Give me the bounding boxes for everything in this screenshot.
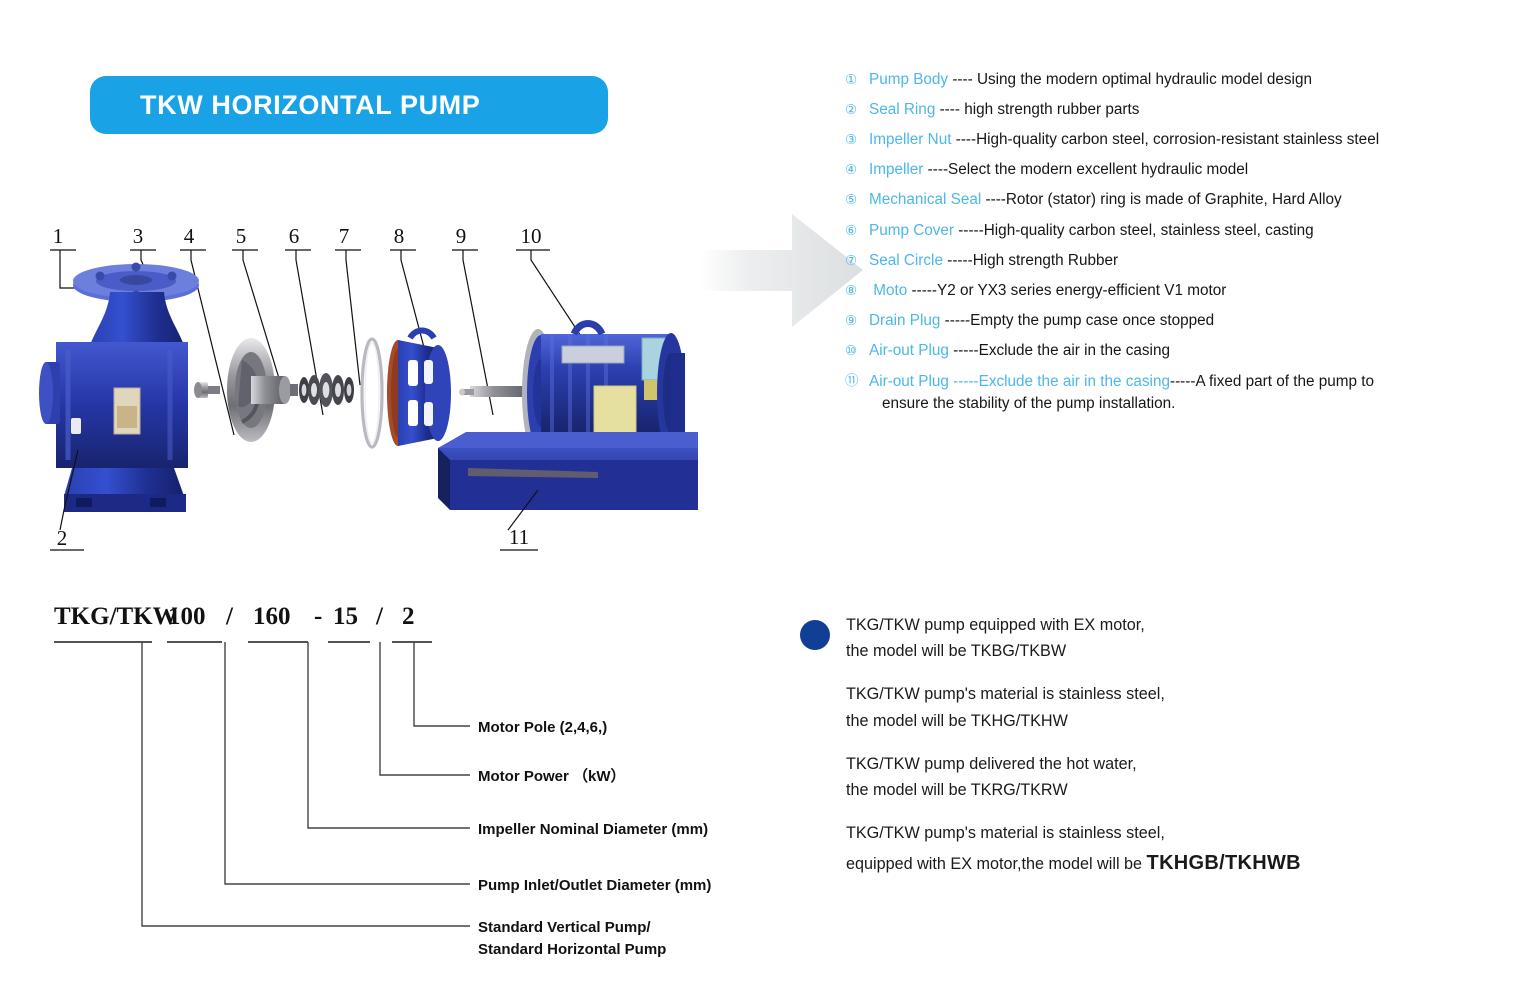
- legend-item-9: ⑨ Drain Plug -----Empty the pump case on…: [845, 311, 1505, 330]
- legend-number-icon-3: ③: [845, 130, 869, 149]
- legend-part-name-6: Pump Cover: [869, 222, 954, 239]
- note-line-4b: equipped with EX motor,the model will be…: [846, 847, 1440, 879]
- seal-circle-part: [362, 339, 382, 447]
- note-paragraph-1: TKG/TKW pump equipped with EX motor, the…: [846, 612, 1440, 664]
- legend-number-icon-4: ④: [845, 160, 869, 179]
- note-line-2b: the model will be TKHG/TKHW: [846, 708, 1440, 734]
- legend-item-4: ④ Impeller ----Select the modern excelle…: [845, 160, 1505, 179]
- legend-text-2: Seal Ring ---- high strength rubber part…: [869, 100, 1505, 119]
- note-line-4b-model: TKHGB/TKHWB: [1147, 852, 1301, 874]
- legend-part-name-9: Drain Plug: [869, 312, 940, 329]
- callout-number-11: 11: [509, 525, 529, 549]
- model-token-series: TKG/TKW: [54, 603, 178, 630]
- model-label-standard-horizontal: Standard Horizontal Pump: [478, 941, 666, 958]
- bullet-dot-icon: [800, 620, 830, 650]
- legend-item-5: ⑤ Mechanical Seal ----Rotor (stator) rin…: [845, 190, 1505, 209]
- legend-description-11-continued: ensure the stability of the pump install…: [869, 393, 1505, 415]
- note-line-1b: the model will be TKBG/TKBW: [846, 638, 1440, 664]
- model-label-motor-power: Motor Power （kW）: [478, 767, 626, 785]
- callout-number-4: 4: [184, 224, 195, 248]
- model-label-inlet-diameter: Pump Inlet/Outlet Diameter (mm): [478, 877, 711, 894]
- legend-part-name-11: Air-out Plug -----Exclude the air in the…: [869, 373, 1170, 390]
- note-paragraph-2: TKG/TKW pump's material is stainless ste…: [846, 681, 1440, 733]
- legend-text-4: Impeller ----Select the modern excellent…: [869, 160, 1505, 179]
- model-designation-diagram: TKG/TKW 100 / 160 - 15 / 2: [40, 596, 720, 976]
- pump-exploded-diagram: 1 3 4 5 6 7 8 9 10: [38, 210, 698, 570]
- callout-number-5: 5: [236, 224, 247, 248]
- legend-description-6: -----High-quality carbon steel, stainles…: [954, 222, 1314, 239]
- legend-number-icon-1: ①: [845, 70, 869, 89]
- callout-number-3: 3: [133, 224, 144, 248]
- legend-number-icon-9: ⑨: [845, 311, 869, 330]
- legend-part-name-10: Air-out Plug: [869, 342, 949, 359]
- model-label-impeller-diameter: Impeller Nominal Diameter (mm): [478, 821, 708, 838]
- callout-number-10: 10: [521, 224, 542, 248]
- model-leader-lines: [142, 642, 470, 926]
- legend-text-8: Moto -----Y2 or YX3 series energy-effici…: [869, 281, 1505, 300]
- legend-description-2: ---- high strength rubber parts: [935, 101, 1139, 118]
- callout-number-6: 6: [289, 224, 300, 248]
- note-line-1a: TKG/TKW pump equipped with EX motor,: [846, 612, 1440, 638]
- model-token-dash: -: [314, 603, 322, 630]
- legend-part-name-4: Impeller: [869, 161, 923, 178]
- motor-shaft-part: [459, 386, 530, 397]
- legend-part-name-2: Seal Ring: [869, 101, 935, 118]
- callout-number-1: 1: [53, 224, 64, 248]
- section-flow-arrow: [700, 208, 865, 333]
- legend-number-icon-6: ⑥: [845, 221, 869, 240]
- legend-description-9: -----Empty the pump case once stopped: [940, 312, 1214, 329]
- pump-cover-part: [387, 331, 451, 447]
- model-token-impeller: 160: [253, 603, 291, 630]
- legend-description-5: ----Rotor (stator) ring is made of Graph…: [981, 191, 1341, 208]
- model-token-pole: 2: [402, 603, 415, 630]
- legend-part-name-3: Impeller Nut: [869, 131, 951, 148]
- note-line-4a: TKG/TKW pump's material is stainless ste…: [846, 820, 1440, 846]
- model-token-slash-2: /: [375, 603, 384, 630]
- right-arrow-icon: [700, 214, 863, 327]
- note-paragraph-4: TKG/TKW pump's material is stainless ste…: [846, 820, 1440, 879]
- note-line-4b-prefix: equipped with EX motor,the model will be: [846, 855, 1147, 873]
- legend-text-1: Pump Body ---- Using the modern optimal …: [869, 70, 1505, 89]
- legend-description-11: -----A fixed part of the pump to: [1170, 373, 1374, 390]
- pump-body-part: [39, 263, 199, 513]
- parts-legend-list: ① Pump Body ---- Using the modern optima…: [845, 70, 1505, 426]
- legend-text-3: Impeller Nut ----High-quality carbon ste…: [869, 130, 1505, 149]
- note-line-3a: TKG/TKW pump delivered the hot water,: [846, 751, 1440, 777]
- legend-number-icon-8: ⑧: [845, 281, 869, 300]
- legend-description-8: -----Y2 or YX3 series energy-efficient V…: [907, 282, 1226, 299]
- note-line-2a: TKG/TKW pump's material is stainless ste…: [846, 681, 1440, 707]
- page-title-banner: TKW HORIZONTAL PUMP: [90, 76, 608, 134]
- note-paragraph-3: TKG/TKW pump delivered the hot water, th…: [846, 751, 1440, 803]
- page-title: TKW HORIZONTAL PUMP: [140, 90, 480, 121]
- mechanical-seal-part: [290, 373, 354, 407]
- base-plate-part: [438, 432, 698, 510]
- model-token-inlet: 100: [168, 603, 206, 630]
- legend-number-icon-7: ⑦: [845, 251, 869, 270]
- legend-description-1: ---- Using the modern optimal hydraulic …: [948, 71, 1312, 88]
- legend-part-name-1: Pump Body: [869, 71, 948, 88]
- legend-item-2: ② Seal Ring ---- high strength rubber pa…: [845, 100, 1505, 119]
- legend-part-name-5: Mechanical Seal: [869, 191, 981, 208]
- legend-description-4: ----Select the modern excellent hydrauli…: [923, 161, 1248, 178]
- legend-number-icon-5: ⑤: [845, 190, 869, 209]
- legend-item-1: ① Pump Body ---- Using the modern optima…: [845, 70, 1505, 89]
- model-token-slash-1: /: [225, 603, 234, 630]
- legend-text-10: Air-out Plug -----Exclude the air in the…: [869, 341, 1505, 360]
- legend-item-7: ⑦ Seal Circle -----High strength Rubber: [845, 251, 1505, 270]
- legend-item-3: ③ Impeller Nut ----High-quality carbon s…: [845, 130, 1505, 149]
- impeller-part: [227, 338, 291, 442]
- legend-item-8: ⑧ Moto -----Y2 or YX3 series energy-effi…: [845, 281, 1505, 300]
- callout-number-7: 7: [339, 224, 350, 248]
- legend-description-7: -----High strength Rubber: [943, 252, 1118, 269]
- legend-part-name-8: Moto: [873, 282, 907, 299]
- legend-number-icon-11: ⑪: [845, 371, 869, 390]
- note-line-3b: the model will be TKRG/TKRW: [846, 777, 1440, 803]
- model-variant-notes: TKG/TKW pump equipped with EX motor, the…: [800, 612, 1440, 879]
- legend-number-icon-2: ②: [845, 100, 869, 119]
- legend-text-5: Mechanical Seal ----Rotor (stator) ring …: [869, 190, 1505, 209]
- legend-item-10: ⑩ Air-out Plug -----Exclude the air in t…: [845, 341, 1505, 360]
- legend-item-11: ⑪ Air-out Plug -----Exclude the air in t…: [845, 371, 1505, 415]
- callout-number-2: 2: [57, 526, 68, 550]
- model-token-power: 15: [333, 603, 358, 630]
- legend-description-3: ----High-quality carbon steel, corrosion…: [951, 131, 1379, 148]
- legend-item-6: ⑥ Pump Cover -----High-quality carbon st…: [845, 221, 1505, 240]
- legend-text-7: Seal Circle -----High strength Rubber: [869, 251, 1505, 270]
- legend-text-11: Air-out Plug -----Exclude the air in the…: [869, 371, 1505, 415]
- legend-description-10: -----Exclude the air in the casing: [949, 342, 1170, 359]
- model-label-motor-pole: Motor Pole (2,4,6,): [478, 719, 607, 736]
- legend-number-icon-10: ⑩: [845, 341, 869, 360]
- callout-number-8: 8: [394, 224, 405, 248]
- legend-text-9: Drain Plug -----Empty the pump case once…: [869, 311, 1505, 330]
- model-label-standard-vertical: Standard Vertical Pump/: [478, 919, 651, 936]
- legend-part-name-7: Seal Circle: [869, 252, 943, 269]
- impeller-nut-part: [194, 382, 220, 398]
- legend-text-6: Pump Cover -----High-quality carbon stee…: [869, 221, 1505, 240]
- callout-number-9: 9: [456, 224, 467, 248]
